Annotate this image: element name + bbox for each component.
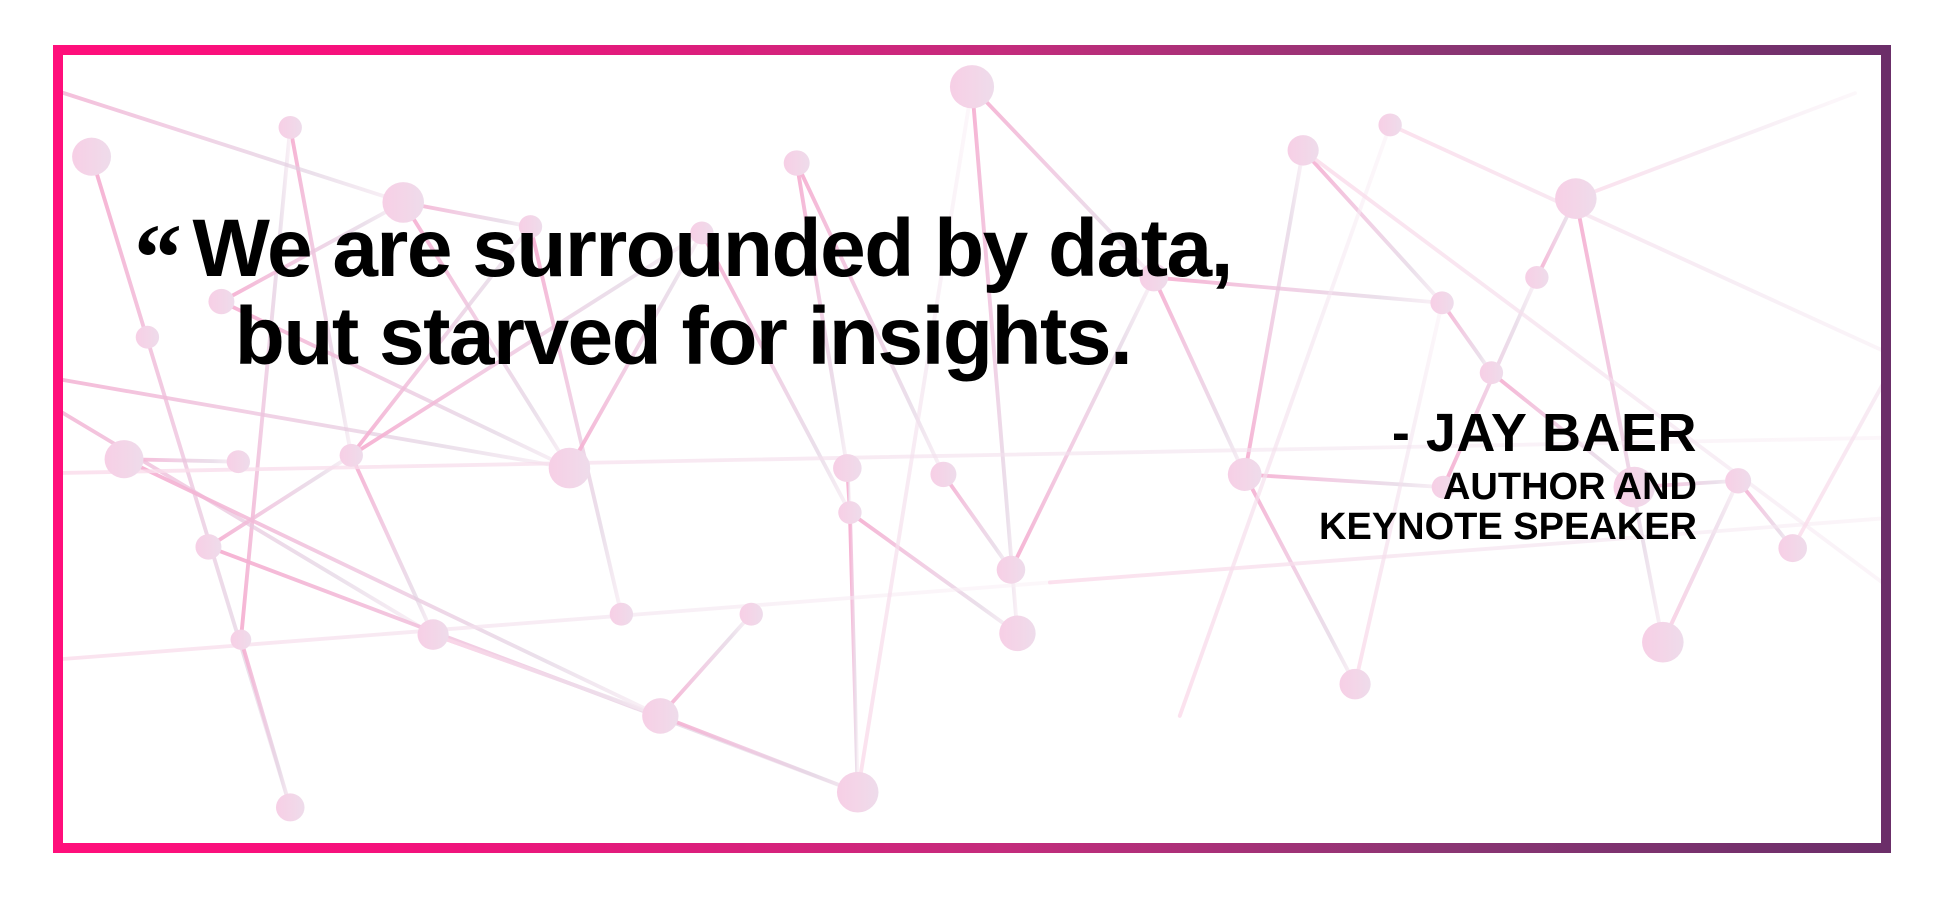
quote-card-inner: “We are surrounded by data, but starved … [63, 55, 1881, 843]
quote-line-1-text: We are surrounded by data, [193, 203, 1232, 294]
author-role-line-2: KEYNOTE SPEAKER [1319, 507, 1697, 547]
quote-line-1: “We are surrounded by data, [63, 205, 1303, 293]
quote-line-2: but starved for insights. [63, 293, 1303, 381]
content-layer: “We are surrounded by data, but starved … [63, 55, 1881, 843]
quote-block: “We are surrounded by data, but starved … [63, 205, 1303, 381]
open-quote-icon: “ [134, 204, 181, 311]
attribution-block: - JAY BAER AUTHOR AND KEYNOTE SPEAKER [1319, 405, 1697, 547]
author-name: - JAY BAER [1319, 405, 1697, 461]
author-role-line-1: AUTHOR AND [1319, 467, 1697, 507]
quote-card: “We are surrounded by data, but starved … [53, 45, 1891, 853]
